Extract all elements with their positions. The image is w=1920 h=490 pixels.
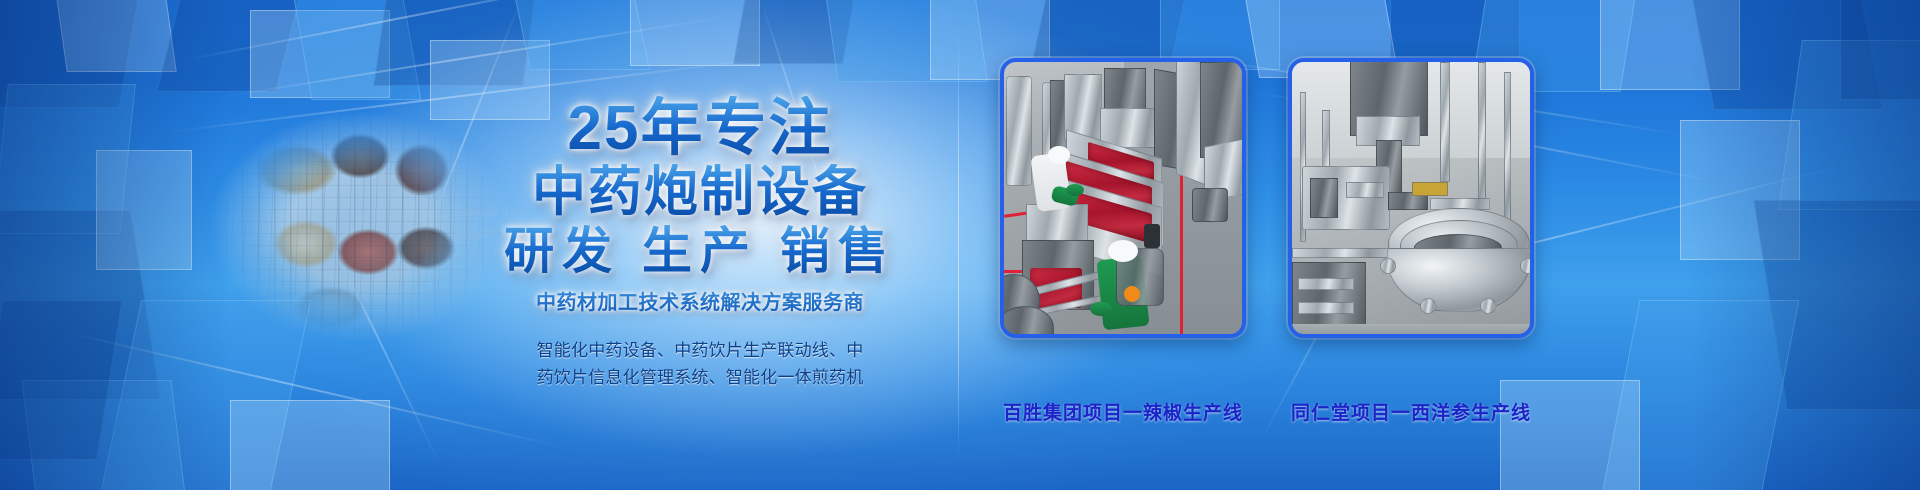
- right-edge-vignette: [1690, 0, 1920, 490]
- caption-chili-line: 百胜集团项目一辣椒生产线: [973, 398, 1273, 425]
- tagline: 中药材加工技术系统解决方案服务商: [490, 286, 910, 315]
- body-copy-line-1: 智能化中药设备、中药饮片生产联动线、中: [490, 337, 910, 365]
- headline-line-3: 研发 生产 销售: [490, 225, 910, 278]
- headline-line-1: 25年专注: [490, 96, 910, 162]
- photo-card-chili-line[interactable]: [1000, 58, 1246, 338]
- photo-card-ginseng-line[interactable]: [1288, 58, 1534, 338]
- caption-ginseng-line: 同仁堂项目一西洋参生产线: [1261, 398, 1561, 425]
- body-copy-line-2: 药饮片信息化管理系统、智能化一体煎药机: [490, 364, 910, 392]
- promo-banner: Sample Text Sample Text2 25年专注 中药炮制设备 研发…: [0, 0, 1920, 490]
- headline-line-2: 中药炮制设备: [490, 164, 910, 221]
- photo-ginseng-production-line: [1292, 62, 1530, 334]
- photo-chili-production-line: [1004, 62, 1242, 334]
- headline-block: 25年专注 中药炮制设备 研发 生产 销售 中药材加工技术系统解决方案服务商 智…: [490, 96, 910, 392]
- left-edge-vignette: [0, 0, 230, 490]
- body-copy: 智能化中药设备、中药饮片生产联动线、中 药饮片信息化管理系统、智能化一体煎药机: [490, 337, 910, 392]
- vertical-divider: [958, 30, 959, 460]
